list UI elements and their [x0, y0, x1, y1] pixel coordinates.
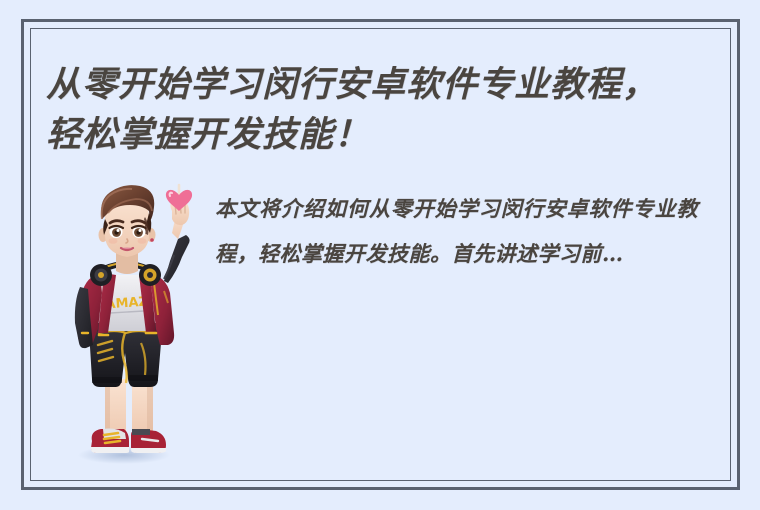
character-head	[99, 185, 156, 257]
character-shoes	[91, 429, 166, 454]
page-title: 从零开始学习闵行安卓软件专业教程， 轻松掌握开发技能！	[46, 60, 706, 160]
article-card: 从零开始学习闵行安卓软件专业教程， 轻松掌握开发技能！	[0, 0, 760, 510]
page-title-line-1: 从零开始学习闵行安卓软件专业教程，	[46, 60, 706, 110]
article-body: AMAZ	[46, 178, 706, 478]
character-illustration: AMAZ	[46, 183, 206, 478]
character-svg: AMAZ	[46, 183, 206, 478]
character-arm-with-lollipop	[166, 185, 192, 239]
article-excerpt: 本文将介绍如何从零开始学习闵行安卓软件专业教程，轻松掌握开发技能。首先讲述学习前…	[215, 186, 698, 276]
page-title-line-2: 轻松掌握开发技能！	[46, 110, 706, 160]
